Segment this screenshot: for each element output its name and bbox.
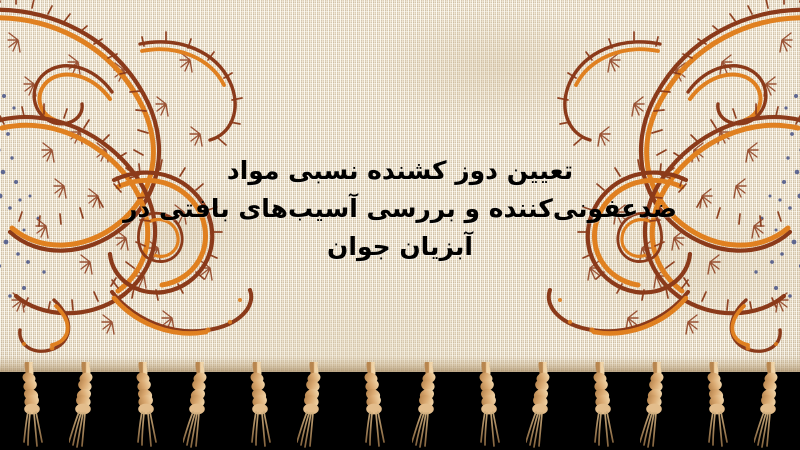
tassel bbox=[12, 362, 46, 450]
title-line-1: تعیین دوز کشنده نسبی مواد bbox=[0, 152, 800, 190]
tassel-fringe bbox=[0, 362, 800, 450]
title-line-2: ضدعفونی‌کننده و بررسی آسیب‌های بافتی در bbox=[0, 190, 800, 228]
tassel bbox=[526, 362, 560, 450]
tassel bbox=[640, 362, 674, 450]
tassel bbox=[697, 362, 731, 450]
tassel bbox=[183, 362, 217, 450]
tassel bbox=[754, 362, 788, 450]
tassel bbox=[126, 362, 160, 450]
tassel bbox=[354, 362, 388, 450]
tassel bbox=[297, 362, 331, 450]
slide-canvas: تعیین دوز کشنده نسبی مواد ضدعفونی‌کننده … bbox=[0, 0, 800, 450]
title-line-3: آبزیان جوان bbox=[0, 228, 800, 266]
tassel bbox=[412, 362, 446, 450]
tassel bbox=[69, 362, 103, 450]
tassel bbox=[469, 362, 503, 450]
tassel bbox=[583, 362, 617, 450]
slide-title: تعیین دوز کشنده نسبی مواد ضدعفونی‌کننده … bbox=[0, 152, 800, 266]
tassel bbox=[240, 362, 274, 450]
